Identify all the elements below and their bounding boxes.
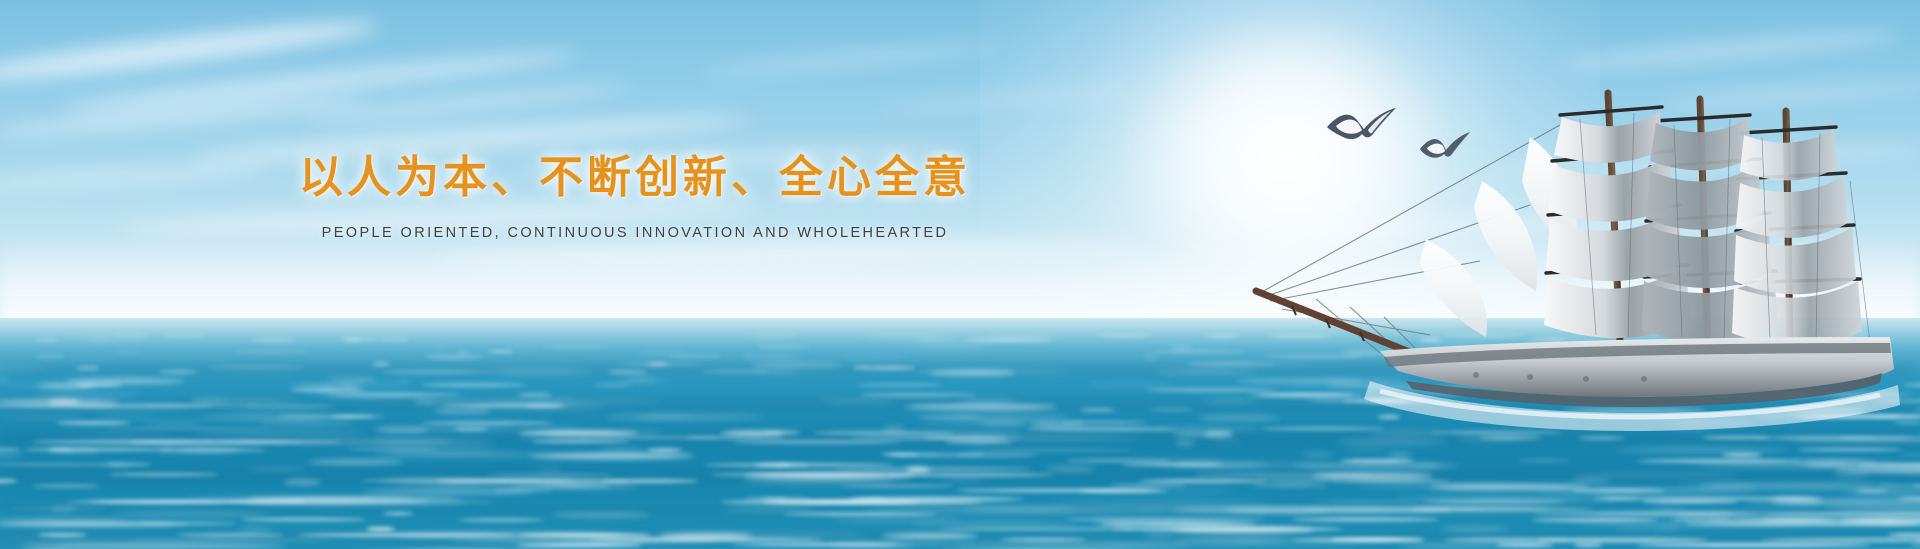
wave-streak — [1593, 497, 1639, 500]
wave-streak — [108, 473, 219, 476]
wave-streak — [540, 345, 610, 349]
wave-streak — [1722, 453, 1762, 457]
wave-streak — [751, 355, 800, 359]
wave-streak — [912, 522, 1076, 526]
banner-subline: PEOPLE ORIENTED, CONTINUOUS INNOVATION A… — [0, 225, 1270, 241]
wave-streak — [939, 527, 1137, 531]
wave-streak — [0, 415, 86, 419]
wave-streak — [1636, 543, 1870, 547]
wave-streak — [37, 383, 94, 389]
wave-streak — [378, 338, 409, 341]
wave-streak — [1145, 355, 1157, 359]
wave-streak — [1154, 489, 1235, 493]
wave-streak — [1001, 538, 1086, 541]
wave-streak — [90, 338, 113, 342]
wave-streak — [435, 345, 446, 349]
wave-streak — [1092, 522, 1135, 526]
wave-streak — [1779, 500, 1920, 504]
wave-streak — [883, 427, 905, 431]
wave-streak — [375, 427, 429, 433]
wave-streak — [882, 533, 978, 539]
wave-streak — [1573, 543, 1603, 547]
cloud-wisp — [1560, 25, 1900, 75]
wave-streak — [433, 408, 490, 414]
wave-streak — [251, 338, 297, 342]
wave-streak — [1387, 453, 1413, 457]
wave-streak — [177, 533, 284, 537]
wave-streak — [116, 350, 140, 354]
banner-copy: 以人为本、不断创新、全心全意 PEOPLE ORIENTED, CONTINUO… — [0, 150, 1270, 241]
wave-streak — [1913, 484, 1920, 488]
wave-streak — [1897, 453, 1920, 457]
wave-streak — [1089, 383, 1173, 387]
wave-streak — [647, 448, 682, 452]
wave-streak — [507, 345, 540, 349]
wave-streak — [1708, 518, 1898, 522]
wave-streak — [383, 448, 498, 452]
wave-streak — [956, 453, 1038, 457]
wave-streak — [1174, 538, 1291, 542]
ship-scene — [1230, 85, 1920, 445]
wave-streak — [955, 489, 1161, 492]
wave-streak — [756, 345, 809, 349]
wave-streak — [842, 355, 909, 359]
wave-streak — [1653, 527, 1680, 531]
wave-streak — [750, 334, 795, 338]
wave-streak — [1832, 473, 1870, 477]
wave-streak — [864, 366, 916, 370]
wave-streak — [903, 345, 993, 349]
wave-streak — [308, 459, 404, 465]
wave-streak — [1842, 489, 1920, 495]
wave-streak — [366, 527, 394, 531]
wave-streak — [599, 448, 646, 452]
cloud-wisp — [700, 39, 1000, 79]
wave-streak — [292, 383, 354, 387]
wave-streak — [430, 484, 587, 488]
wave-streak — [457, 350, 468, 354]
wave-streak — [398, 378, 411, 382]
wave-streak — [1399, 543, 1508, 549]
wave-streak — [1144, 533, 1174, 537]
wave-streak — [720, 500, 919, 504]
wave-streak — [454, 427, 488, 431]
wave-streak — [1423, 500, 1569, 503]
wave-streak — [32, 484, 99, 488]
wave-streak — [104, 427, 273, 430]
wave-streak — [143, 421, 205, 425]
wave-streak — [35, 355, 64, 358]
wave-streak — [161, 334, 207, 338]
wave-streak — [529, 453, 694, 459]
wave-streak — [241, 518, 366, 521]
wave-streak — [38, 533, 87, 537]
banner-headline: 以人为本、不断创新、全心全意 — [0, 150, 1270, 205]
wave-streak — [290, 388, 364, 392]
wave-streak — [710, 473, 917, 476]
wave-streak — [422, 383, 526, 387]
wave-streak — [19, 543, 287, 549]
wave-streak — [0, 378, 10, 382]
wave-streak — [257, 421, 355, 425]
wave-streak — [1346, 448, 1387, 452]
wave-streak — [89, 500, 308, 503]
wave-streak — [1440, 527, 1509, 531]
wave-streak — [1573, 473, 1741, 477]
wave-streak — [0, 453, 24, 457]
wave-streak — [916, 338, 957, 342]
sailing-ship-illustration — [1230, 85, 1920, 445]
wave-streak — [950, 415, 1071, 419]
wave-streak — [905, 404, 1057, 410]
wave-streak — [635, 415, 691, 419]
wave-streak — [1617, 527, 1653, 531]
wave-streak — [383, 512, 413, 515]
wave-streak — [1193, 473, 1373, 477]
hero-banner: 以人为本、不断创新、全心全意 PEOPLE ORIENTED, CONTINUO… — [0, 0, 1920, 549]
wave-streak — [594, 383, 632, 387]
wave-streak — [647, 362, 669, 366]
wave-streak — [668, 355, 723, 358]
square-sails — [1544, 111, 1862, 346]
wave-streak — [1252, 484, 1328, 487]
wave-streak — [1112, 527, 1343, 531]
wave-streak — [519, 427, 584, 431]
wave-streak — [0, 404, 119, 408]
wave-streak — [831, 518, 961, 522]
wave-streak — [637, 350, 688, 354]
wave-streak — [1443, 538, 1568, 542]
wave-streak — [489, 350, 513, 353]
wave-streak — [1331, 538, 1425, 541]
wave-streak — [1534, 489, 1758, 493]
wave-streak — [374, 453, 537, 457]
wave-streak — [0, 518, 127, 522]
wave-streak — [56, 421, 131, 425]
wave-streak — [486, 473, 615, 477]
wave-streak — [1909, 543, 1920, 547]
wave-streak — [112, 512, 270, 516]
wave-streak — [362, 489, 533, 495]
wave-streak — [1098, 334, 1152, 337]
wave-streak — [234, 350, 308, 353]
wave-streak — [1311, 500, 1419, 503]
wave-streak — [0, 448, 20, 451]
wave-streak — [1109, 484, 1186, 487]
wave-streak — [1044, 500, 1274, 504]
wave-streak — [961, 448, 1131, 452]
wave-streak — [1888, 533, 1920, 537]
wave-streak — [561, 538, 718, 542]
wave-streak — [425, 355, 484, 359]
wave-streak — [857, 383, 942, 387]
wave-streak — [613, 378, 671, 382]
wave-streak — [1291, 518, 1440, 521]
wave-streak — [397, 533, 624, 537]
wave-streak — [1797, 448, 1902, 451]
wave-streak — [516, 543, 641, 547]
wave-streak — [373, 362, 389, 366]
wave-streak — [442, 404, 563, 407]
wave-streak — [127, 538, 332, 542]
wave-streak — [94, 415, 161, 419]
wave-streak — [840, 484, 954, 488]
wave-streak — [1761, 538, 1920, 542]
wave-streak — [76, 366, 98, 370]
wave-streak — [1761, 512, 1920, 516]
wave-streak — [1531, 518, 1657, 522]
wave-streak — [200, 415, 322, 421]
wave-streak — [421, 421, 553, 425]
wave-streak — [458, 518, 544, 522]
wave-streak — [1641, 500, 1739, 503]
wave-streak — [344, 338, 379, 341]
wave-streak — [912, 512, 1154, 516]
wave-streak — [1616, 448, 1789, 452]
wave-streak — [1065, 518, 1266, 521]
wave-streak — [238, 527, 273, 531]
wave-streak — [1517, 459, 1571, 462]
wave-streak — [1301, 453, 1335, 457]
wave-streak — [750, 362, 842, 368]
wave-streak — [35, 338, 59, 342]
wave-streak — [784, 512, 938, 516]
wave-streak — [208, 366, 304, 369]
hull — [1380, 337, 1894, 407]
wave-streak — [553, 512, 650, 518]
wave-streak — [326, 378, 365, 382]
wave-streak — [963, 338, 1052, 342]
